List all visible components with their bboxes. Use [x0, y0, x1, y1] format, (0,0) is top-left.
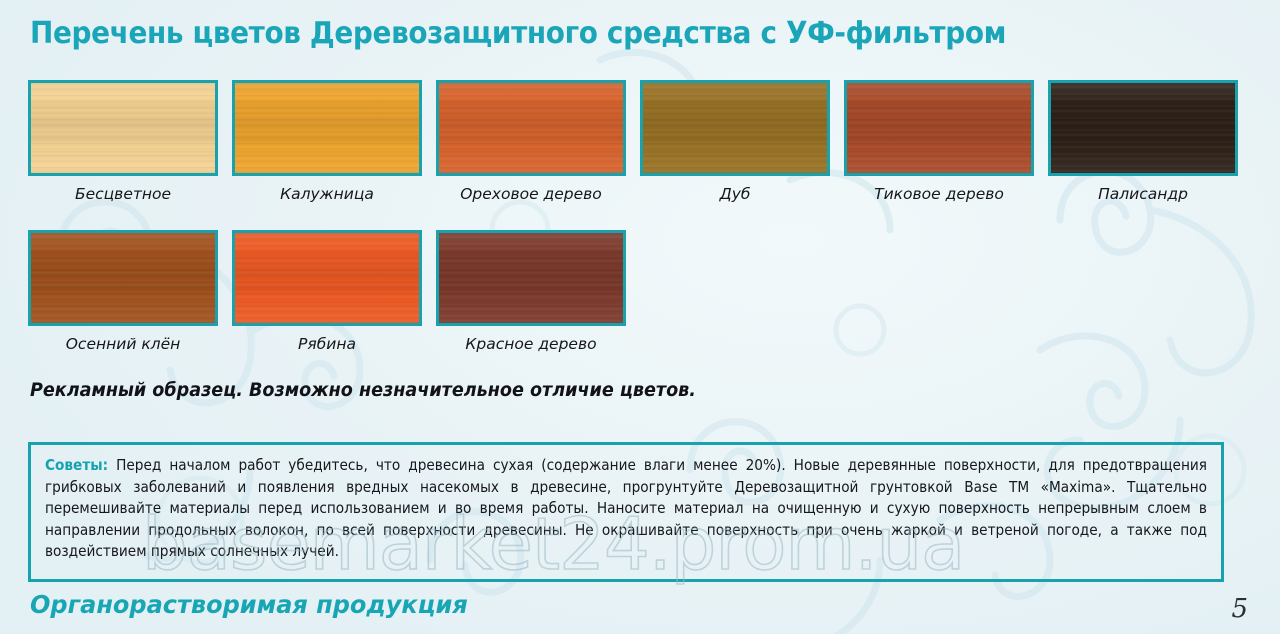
swatch-label: Тиковое дерево — [874, 185, 1004, 203]
swatch-label: Калужница — [280, 185, 374, 203]
swatch-label: Осенний клён — [66, 335, 181, 353]
swatch-label: Палисандр — [1098, 185, 1188, 203]
swatch-chip-osenniy-klyon[interactable] — [28, 230, 218, 326]
page-number: 5 — [1231, 594, 1248, 624]
swatch-cell[interactable]: Калужница — [232, 80, 422, 203]
wood-grain-texture — [235, 83, 419, 173]
wood-grain-texture — [439, 233, 623, 323]
swatch-cell[interactable]: Красное дерево — [436, 230, 626, 353]
swatch-row-1: Бесцветное Калужница Ореховое дерево Дуб — [28, 80, 1252, 203]
wood-grain-texture — [847, 83, 1031, 173]
swatch-cell[interactable]: Дуб — [640, 80, 830, 203]
wood-grain-texture — [643, 83, 827, 173]
swatch-cell[interactable]: Палисандр — [1048, 80, 1238, 203]
wood-grain-texture — [31, 233, 215, 323]
catalog-page: Перечень цветов Деревозащитного средства… — [0, 0, 1280, 634]
swatch-label: Красное дерево — [465, 335, 596, 353]
swatch-cell[interactable]: Рябина — [232, 230, 422, 353]
footer-title: Органорастворимая продукция — [30, 590, 468, 619]
swatch-cell[interactable]: Бесцветное — [28, 80, 218, 203]
swatch-chip-dub[interactable] — [640, 80, 830, 176]
swatch-label: Рябина — [298, 335, 356, 353]
wood-grain-texture — [439, 83, 623, 173]
page-title: Перечень цветов Деревозащитного средства… — [30, 16, 1006, 51]
tips-lead-label: Советы: — [45, 456, 108, 474]
tips-paragraph: Советы: Перед началом работ убедитесь, ч… — [45, 455, 1207, 563]
tips-box: Советы: Перед началом работ убедитесь, ч… — [28, 442, 1224, 582]
swatch-chip-palisandr[interactable] — [1048, 80, 1238, 176]
swatch-label: Бесцветное — [75, 185, 171, 203]
wood-grain-texture — [235, 233, 419, 323]
swatch-chip-kaluzhnitsa[interactable] — [232, 80, 422, 176]
swatch-cell[interactable]: Ореховое дерево — [436, 80, 626, 203]
swatch-label: Дуб — [720, 185, 751, 203]
swatch-chip-krasnoe-derevo[interactable] — [436, 230, 626, 326]
wood-grain-texture — [31, 83, 215, 173]
disclaimer-text: Рекламный образец. Возможно незначительн… — [30, 380, 696, 401]
tips-body-text: Перед началом работ убедитесь, что древе… — [45, 456, 1207, 560]
swatch-chip-ryabina[interactable] — [232, 230, 422, 326]
wood-grain-texture — [1051, 83, 1235, 173]
swatch-chip-tikovoe-derevo[interactable] — [844, 80, 1034, 176]
swatch-chip-bestsvetnoe[interactable] — [28, 80, 218, 176]
swatch-cell[interactable]: Тиковое дерево — [844, 80, 1034, 203]
swatch-label: Ореховое дерево — [460, 185, 602, 203]
swatch-chip-orehovoe-derevo[interactable] — [436, 80, 626, 176]
swatch-row-2: Осенний клён Рябина Красное дерево — [28, 230, 1252, 353]
swatch-cell[interactable]: Осенний клён — [28, 230, 218, 353]
